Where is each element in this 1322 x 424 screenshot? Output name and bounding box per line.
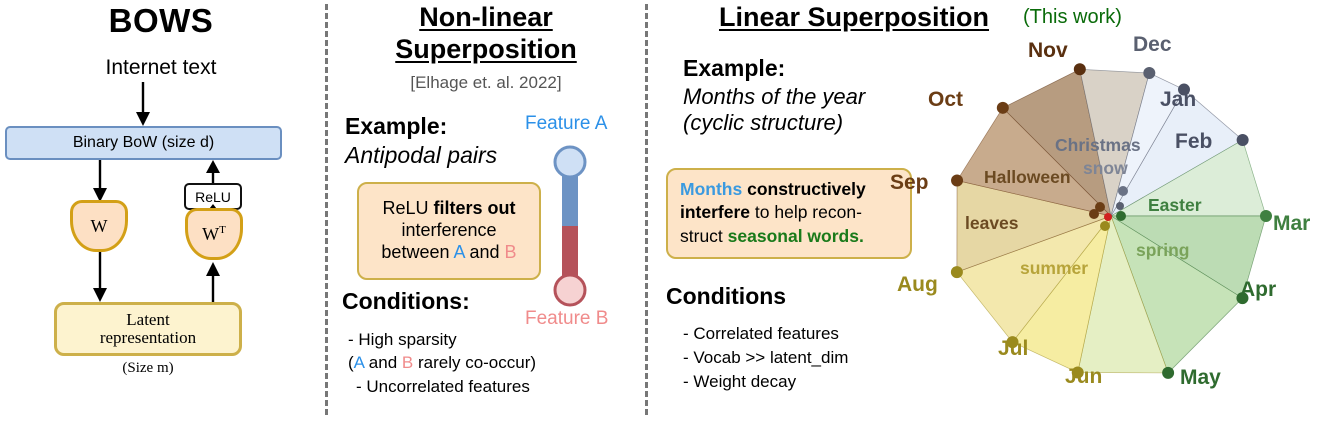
- nonlinear-condition-2: (A and B rarely co-occur): [348, 351, 536, 374]
- linear-conditions-list: - Correlated features - Vocab >> latent_…: [683, 322, 848, 394]
- feature-a-dot: [555, 147, 585, 177]
- linear-callout-box: Months constructively interfere to help …: [666, 168, 912, 259]
- center-cluster-dot-1: [1089, 209, 1099, 219]
- wheel-month-label-aug: Aug: [897, 273, 938, 297]
- panel-nonlinear-superposition: Non-linear Superposition [Elhage et. al.…: [330, 0, 642, 419]
- wheel-vertex-sep: [951, 174, 963, 186]
- antipodal-pair-diagram: [520, 140, 630, 310]
- internet-text-label: Internet text: [0, 56, 322, 80]
- wheel-month-label-feb: Feb: [1175, 130, 1212, 154]
- wheel-month-label-nov: Nov: [1028, 39, 1068, 63]
- wheel-month-label-jan: Jan: [1160, 88, 1196, 112]
- panel-divider-1: [325, 4, 328, 415]
- center-cluster-dot-5: [1116, 211, 1126, 221]
- nonlinear-title-line1: Non-linear: [330, 2, 642, 34]
- seasonal-word-snow: snow: [1083, 158, 1128, 179]
- latent-size-note: (Size m): [54, 360, 242, 377]
- seasonal-word-spring: spring: [1136, 240, 1189, 261]
- nonlinear-citation: [Elhage et. al. 2022]: [330, 73, 642, 93]
- linear-example-label: Example:: [683, 55, 785, 82]
- arrow-bow-to-w: [90, 160, 110, 204]
- nonlinear-callout-line1: ReLU filters out: [382, 198, 515, 220]
- feature-b-dot: [555, 275, 585, 305]
- center-cluster-dot-2: [1118, 186, 1128, 196]
- encoder-w-node: W: [70, 200, 128, 252]
- nonlinear-example-label: Example:: [345, 113, 447, 140]
- wheel-month-label-jul: Jul: [998, 337, 1028, 361]
- nonlinear-title: Non-linear Superposition: [330, 2, 642, 66]
- linear-condition-3: - Weight decay: [683, 370, 848, 394]
- seasonal-word-halloween: Halloween: [984, 167, 1071, 188]
- encoder-w-label: W: [91, 216, 108, 237]
- nonlinear-conditions-list: - High sparsity (A and B rarely co-occur…: [348, 328, 536, 398]
- nonlinear-callout-line3: between A and B: [381, 242, 516, 264]
- center-cluster-dot-3: [1116, 202, 1124, 210]
- arrow-w-to-latent: [90, 252, 110, 304]
- wheel-vertex-mar: [1260, 210, 1272, 222]
- linear-conditions-label: Conditions: [666, 283, 786, 310]
- linear-example-line1: Months of the year: [683, 84, 865, 110]
- wheel-vertex-nov: [1074, 63, 1086, 75]
- linear-condition-2: - Vocab >> latent_dim: [683, 346, 848, 370]
- arrow-input-to-bow: [133, 82, 153, 128]
- nonlinear-condition-1: - High sparsity: [348, 328, 536, 351]
- wheel-month-label-dec: Dec: [1133, 33, 1172, 57]
- linear-condition-1: - Correlated features: [683, 322, 848, 346]
- feature-a-label: Feature A: [525, 113, 607, 135]
- arrow-relu-to-bow: [203, 160, 223, 185]
- wheel-month-label-oct: Oct: [928, 88, 963, 112]
- wheel-svg: [880, 0, 1322, 419]
- seasonal-word-christmas: Christmas: [1055, 135, 1141, 156]
- wheel-vertex-oct: [997, 102, 1009, 114]
- nonlinear-callout-line2: interference: [401, 220, 496, 242]
- wheel-month-label-mar: Mar: [1273, 212, 1310, 236]
- seasonal-word-easter: Easter: [1148, 195, 1202, 216]
- latent-line-2: representation: [100, 329, 196, 347]
- nonlinear-title-line2: Superposition: [330, 34, 642, 66]
- center-cluster-dot-4: [1104, 213, 1112, 221]
- wheel-month-label-jun: Jun: [1065, 365, 1102, 389]
- linear-example-line2: (cyclic structure): [683, 110, 865, 136]
- feature-b-label: Feature B: [525, 308, 608, 330]
- nonlinear-conditions-label: Conditions:: [342, 288, 470, 315]
- bows-title: BOWS: [0, 2, 322, 40]
- latent-representation-box: Latent representation: [54, 302, 242, 356]
- wheel-month-label-apr: Apr: [1240, 278, 1276, 302]
- relu-label: ReLU: [195, 189, 231, 205]
- wheel-vertex-may: [1162, 367, 1174, 379]
- latent-line-1: Latent: [126, 311, 169, 329]
- panel-linear-superposition: Linear Superposition (This work) Example…: [650, 0, 1322, 419]
- months-cyclic-wheel: JanFebMarAprMayJunJulAugSepOctNovDecChri…: [880, 0, 1322, 419]
- nonlinear-example-text: Antipodal pairs: [345, 142, 497, 169]
- decoder-wt-label: WT: [202, 224, 226, 245]
- arrow-latent-to-wt: [203, 260, 223, 306]
- panel-bows: BOWS Internet text Binary BoW (size d) W…: [0, 0, 322, 419]
- wheel-month-label-may: May: [1180, 366, 1221, 390]
- wheel-vertex-aug: [951, 266, 963, 278]
- wheel-month-label-sep: Sep: [890, 171, 929, 195]
- wheel-vertex-feb: [1237, 134, 1249, 146]
- callout-months-word: Months: [680, 179, 742, 199]
- panel-divider-2: [645, 4, 648, 415]
- callout-seasonal-words: seasonal words.: [728, 226, 864, 246]
- center-cluster-dot-6: [1100, 221, 1110, 231]
- seasonal-word-summer: summer: [1020, 258, 1088, 279]
- binary-bow-label: Binary BoW (size d): [73, 134, 214, 152]
- nonlinear-condition-3: - Uncorrelated features: [348, 375, 536, 398]
- decoder-wt-node: WT: [185, 208, 243, 260]
- seasonal-word-leaves: leaves: [965, 213, 1019, 234]
- binary-bow-box: Binary BoW (size d): [5, 126, 282, 160]
- wheel-vertex-dec: [1143, 67, 1155, 79]
- linear-example-text: Months of the year (cyclic structure): [683, 84, 865, 137]
- nonlinear-callout-box: ReLU filters out interference between A …: [357, 182, 541, 280]
